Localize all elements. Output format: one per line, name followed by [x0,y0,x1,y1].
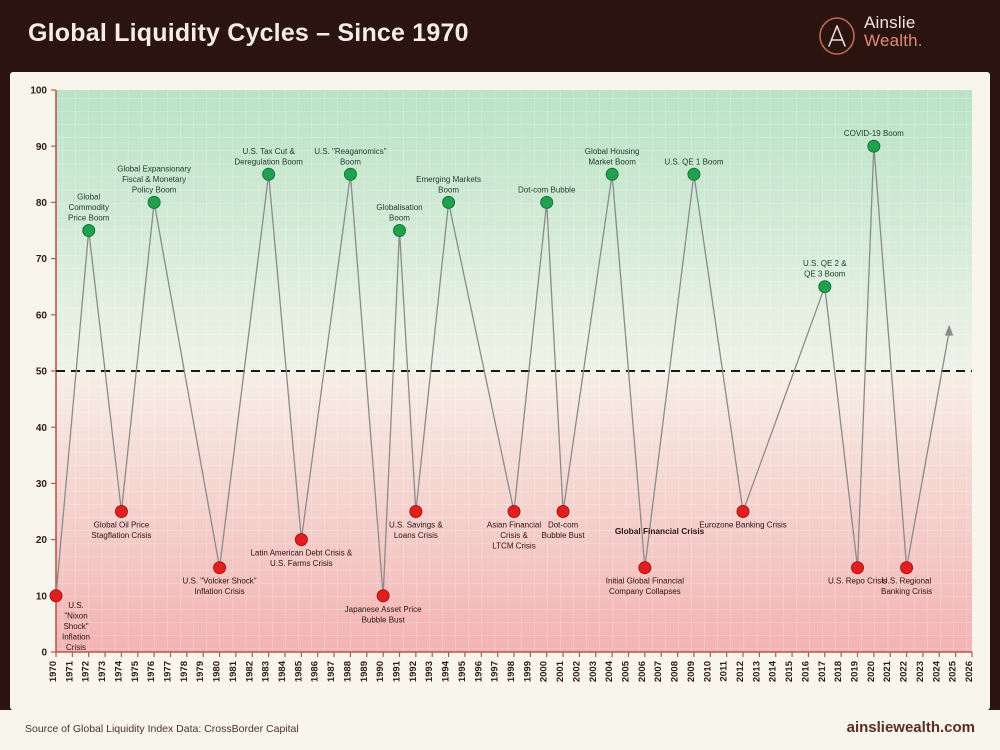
peak-marker[interactable] [868,140,880,152]
x-axis-tick-label: 2022 [899,661,910,682]
brand-name-line1: Ainslie [864,14,923,32]
trough-marker[interactable] [115,506,127,518]
peak-marker[interactable] [344,168,356,180]
trough-marker[interactable] [639,562,651,574]
x-axis-tick-label: 1977 [163,661,174,682]
peak-marker[interactable] [443,196,455,208]
x-axis-tick-label: 1980 [212,661,223,682]
y-axis-tick-label: 40 [36,423,48,434]
x-axis-tick-label: 1982 [244,661,255,682]
x-axis-tick-label: 2024 [931,660,942,682]
point-label: Eurozone Banking Crisis [699,521,787,530]
peak-marker[interactable] [606,168,618,180]
x-axis-tick-label: 2016 [800,661,811,682]
x-axis-tick-label: 1987 [326,661,337,682]
plot-area: 0102030405060708090100197019711972197319… [10,72,990,710]
x-axis-tick-label: 1973 [97,661,108,682]
x-axis-tick-label: 1988 [342,661,353,682]
y-axis-tick-label: 90 [36,142,48,153]
y-axis-tick-label: 50 [36,367,48,378]
x-axis-tick-label: 2013 [751,661,762,682]
x-axis-tick-label: 2006 [637,661,648,682]
point-label: Global HousingMarket Boom [585,147,640,167]
peak-marker[interactable] [394,225,406,237]
point-label: U.S. Tax Cut &Deregulation Boom [234,147,303,167]
trough-marker[interactable] [295,534,307,546]
ainslie-a-monogram-icon [816,15,858,57]
x-axis-tick-label: 1995 [457,660,468,682]
x-axis-tick-label: 2001 [555,660,566,682]
x-axis-tick-label: 2000 [539,661,550,682]
x-axis-tick-label: 1991 [392,660,403,682]
x-axis-tick-label: 2003 [588,661,599,682]
trough-marker[interactable] [214,562,226,574]
trough-marker[interactable] [410,506,422,518]
x-axis-tick-label: 2004 [604,660,615,682]
website-url[interactable]: ainsliewealth.com [847,719,975,736]
source-note: Source of Global Liquidity Index Data: C… [25,723,299,735]
x-axis-tick-label: 1996 [473,661,484,682]
peak-marker[interactable] [541,196,553,208]
trough-marker[interactable] [737,506,749,518]
y-axis-tick-label: 70 [36,254,48,265]
x-axis-tick-label: 2020 [866,661,877,682]
point-label: Global Oil PriceStagflation Crisis [91,521,151,541]
y-axis-tick-label: 20 [36,535,48,546]
x-axis-tick-label: 1974 [113,660,124,682]
x-axis-tick-label: 1985 [293,660,304,682]
page-header: Global Liquidity Cycles – Since 1970 Ain… [0,0,1000,72]
y-axis-tick-label: 0 [41,648,47,659]
x-axis-tick-label: 2012 [735,661,746,682]
x-axis-tick-label: 2011 [719,660,730,681]
x-axis-tick-label: 1984 [277,660,288,682]
point-label: COVID-19 Boom [844,129,904,138]
trough-marker[interactable] [901,562,913,574]
x-axis-tick-label: 1997 [490,661,501,682]
x-axis-tick-label: 1989 [359,661,370,682]
trough-marker[interactable] [557,506,569,518]
peak-marker[interactable] [83,225,95,237]
point-label: Initial Global FinancialCompany Collapse… [606,577,684,597]
peak-marker[interactable] [148,196,160,208]
trough-marker[interactable] [508,506,520,518]
x-axis-tick-label: 1990 [375,661,386,682]
x-axis-tick-label: 1979 [195,661,206,682]
point-label: Dot-com Bubble [518,185,576,194]
page-footer: Source of Global Liquidity Index Data: C… [0,710,1000,750]
brand-logo: Ainslie Wealth. [816,12,976,62]
trough-marker[interactable] [377,590,389,602]
x-axis-tick-label: 2002 [571,661,582,682]
x-axis-tick-label: 2008 [670,661,681,682]
x-axis-tick-label: 1971 [64,660,75,682]
chart-annotation: Global Financial Crisis [615,526,705,536]
point-label: U.S. RegionalBanking Crisis [881,577,932,597]
x-axis-tick-label: 2009 [686,661,697,682]
x-axis-tick-label: 2010 [702,661,713,682]
x-axis-tick-label: 1978 [179,661,190,682]
x-axis-tick-label: 1983 [261,661,272,682]
x-axis-tick-label: 1993 [424,661,435,682]
x-axis-tick-label: 2025 [948,660,959,682]
point-label: U.S. QE 1 Boom [664,157,723,166]
x-axis-tick-label: 2005 [621,660,632,682]
x-axis-tick-label: 1972 [81,661,92,682]
liquidity-chart-page: Global Liquidity Cycles – Since 1970 Ain… [0,0,1000,750]
x-axis-tick-label: 2017 [817,661,828,682]
y-axis-tick-label: 80 [36,198,48,209]
point-label: U.S. Savings &Loans Crisis [389,521,443,541]
x-axis-tick-label: 1970 [48,661,59,682]
x-axis-tick-label: 1994 [441,660,452,682]
x-axis-tick-label: 2007 [653,661,664,682]
x-axis-tick-label: 2018 [833,661,844,682]
x-axis-tick-label: 1986 [310,661,321,682]
x-axis-tick-label: 2023 [915,661,926,682]
x-axis-tick-label: 1999 [522,661,533,682]
brand-name-line2: Wealth. [864,32,923,50]
x-axis-tick-label: 1975 [130,660,141,682]
page-title: Global Liquidity Cycles – Since 1970 [28,19,469,48]
x-axis-tick-label: 1998 [506,661,517,682]
x-axis-tick-label: 1976 [146,661,157,682]
y-axis-tick-label: 60 [36,310,48,321]
x-axis-tick-label: 2019 [850,661,861,682]
x-axis-tick-label: 2021 [882,660,893,682]
x-axis-tick-label: 1992 [408,661,419,682]
y-axis-tick-label: 100 [30,86,47,97]
trough-marker[interactable] [50,590,62,602]
x-axis-tick-label: 2026 [964,661,975,682]
y-axis-tick-label: 10 [36,591,48,602]
trough-marker[interactable] [852,562,864,574]
peak-marker[interactable] [688,168,700,180]
point-label: U.S. QE 2 &QE 3 Boom [803,259,847,279]
peak-marker[interactable] [819,281,831,293]
peak-marker[interactable] [263,168,275,180]
x-axis-tick-label: 2015 [784,660,795,682]
y-axis-tick-label: 30 [36,479,48,490]
point-label: U.S. Repo Crisis [828,577,887,586]
brand-text: Ainslie Wealth. [864,14,923,51]
chart-card: 0102030405060708090100197019711972197319… [10,72,990,710]
liquidity-line-chart: 0102030405060708090100197019711972197319… [10,72,990,710]
x-axis-tick-label: 2014 [768,660,779,682]
x-axis-tick-label: 1981 [228,660,239,682]
